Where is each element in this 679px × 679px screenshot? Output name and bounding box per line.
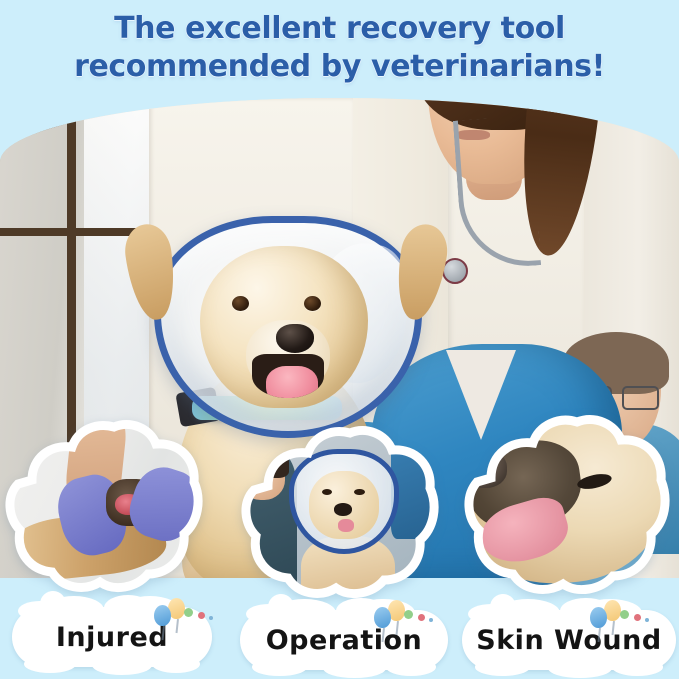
paw-frame-outline (236, 424, 440, 604)
pill-bump (323, 658, 385, 678)
confetti-dot (645, 618, 649, 622)
use-case-inset-operation (236, 424, 440, 604)
headline-block: The excellent recovery tool recommended … (0, 10, 679, 87)
dog-eye (304, 296, 321, 311)
confetti-dot (429, 618, 433, 622)
balloon-cluster (372, 600, 442, 640)
paw-frame-outline (455, 412, 673, 602)
balloon-icon (154, 605, 171, 626)
pill-bump (386, 658, 436, 676)
balloon-cluster (152, 598, 222, 638)
pill-bump (612, 658, 663, 676)
paw-frame-outline (0, 418, 208, 598)
stethoscope-icon (453, 115, 541, 270)
dog-tongue (266, 366, 318, 398)
dog-mouth (252, 354, 324, 398)
use-case-inset-skin-wound (455, 412, 673, 602)
pill-bump (104, 595, 152, 621)
product-banner: The excellent recovery tool recommended … (0, 0, 679, 679)
confetti-dot (620, 610, 629, 619)
confetti-dot (209, 616, 213, 620)
confetti-dot (418, 614, 425, 621)
stethoscope-chestpiece (442, 258, 468, 284)
balloon-cluster (588, 600, 658, 640)
balloon-icon (590, 607, 607, 628)
confetti-dot (198, 612, 205, 619)
confetti-dot (404, 610, 413, 619)
pill-bump (252, 658, 306, 676)
pill-bump (548, 658, 612, 678)
headline-line-2: recommended by veterinarians! (26, 48, 653, 86)
pill-bump (24, 655, 76, 673)
confetti-dot (184, 608, 193, 617)
pill-bump (475, 658, 531, 676)
dog-nose (276, 324, 314, 353)
pill-bump (152, 655, 200, 673)
dog-eye (232, 296, 249, 311)
use-case-inset-injured (0, 418, 208, 598)
headline-line-1: The excellent recovery tool (26, 10, 653, 48)
balloon-icon (374, 607, 391, 628)
confetti-dot (634, 614, 641, 621)
dog-head (200, 246, 368, 408)
pill-bump (92, 655, 152, 675)
